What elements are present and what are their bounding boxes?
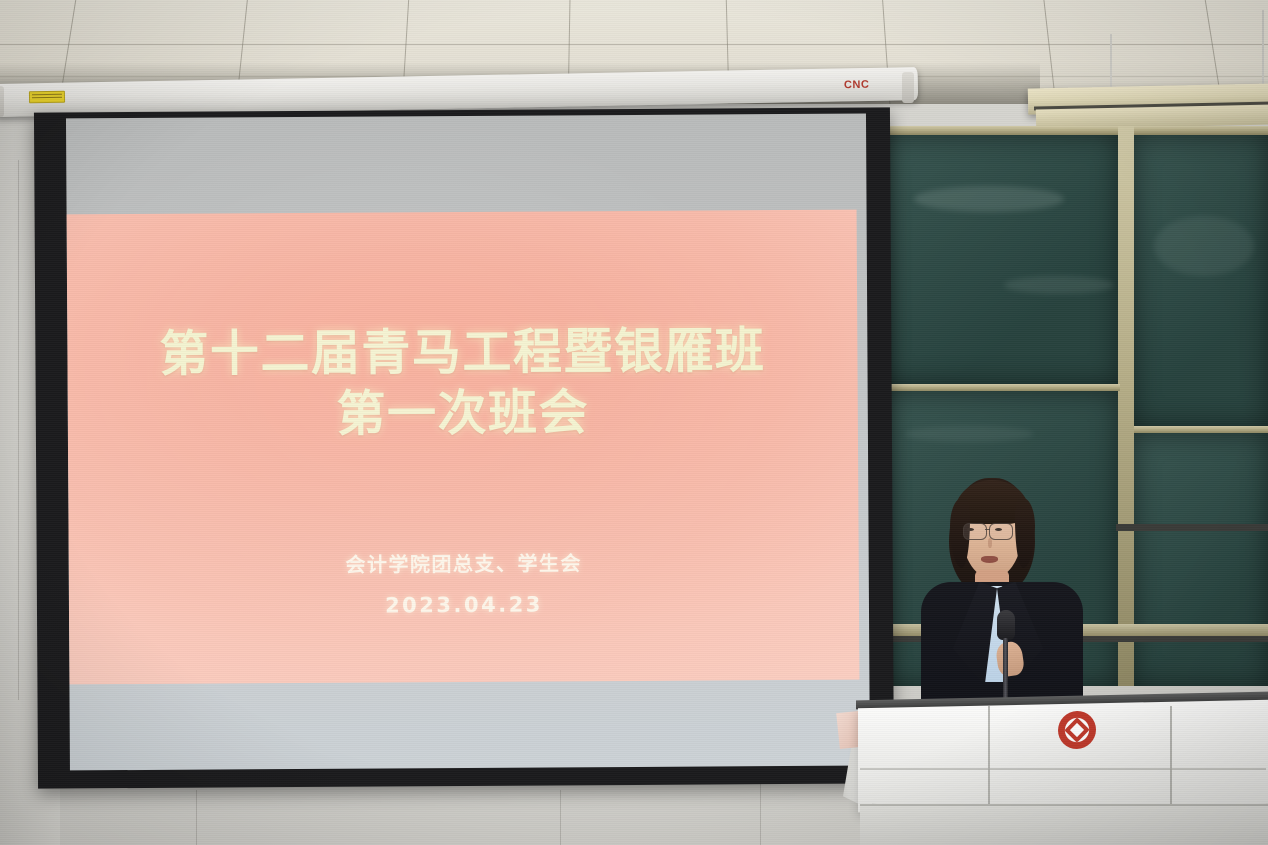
- microphone-head: [997, 610, 1015, 640]
- presentation-slide: 第十二届青马工程暨银雁班 第一次班会 会计学院团总支、学生会 2023.04.2…: [67, 210, 860, 685]
- roller-brand-mark: CNC: [844, 79, 870, 91]
- ceiling-hanger-rod-2: [1262, 10, 1264, 88]
- board-panel-bottom-right: [1134, 433, 1268, 686]
- eyeglasses-lens-left: [963, 523, 987, 540]
- mouth: [981, 556, 998, 563]
- slide-organization: 会计学院团总支、学生会: [69, 546, 859, 580]
- roller-end-cap-right: [902, 72, 914, 103]
- slide-date: 2023.04.23: [69, 591, 859, 620]
- front-desk: [860, 806, 1268, 845]
- roller-end-cap-left: [0, 86, 4, 117]
- eyeglasses-bridge: [985, 529, 990, 530]
- board-panel-top-right: [1134, 135, 1268, 426]
- board-panel-top-left: [884, 135, 1118, 384]
- nose: [988, 538, 992, 548]
- ceiling-hanger-rod: [1110, 34, 1112, 90]
- slide-title: 第十二届青马工程暨银雁班 第一次班会: [67, 320, 858, 447]
- projector-screen-frame: 第十二届青马工程暨银雁班 第一次班会 会计学院团总支、学生会 2023.04.2…: [34, 107, 894, 788]
- warning-label: [29, 91, 65, 104]
- classroom-photo-scene: CNC 第十二届青马工程暨银雁班 第一次班会 会计学院团总支、学生会 2023.…: [0, 0, 1268, 845]
- projector-screen-surface: 第十二届青马工程暨银雁班 第一次班会 会计学院团总支、学生会 2023.04.2…: [66, 114, 870, 771]
- podium-lectern: [840, 692, 1268, 812]
- speaker-person: [905, 478, 1105, 728]
- chalk-tray-shadow: [1116, 524, 1268, 531]
- eyeglasses-lens-right: [989, 523, 1013, 540]
